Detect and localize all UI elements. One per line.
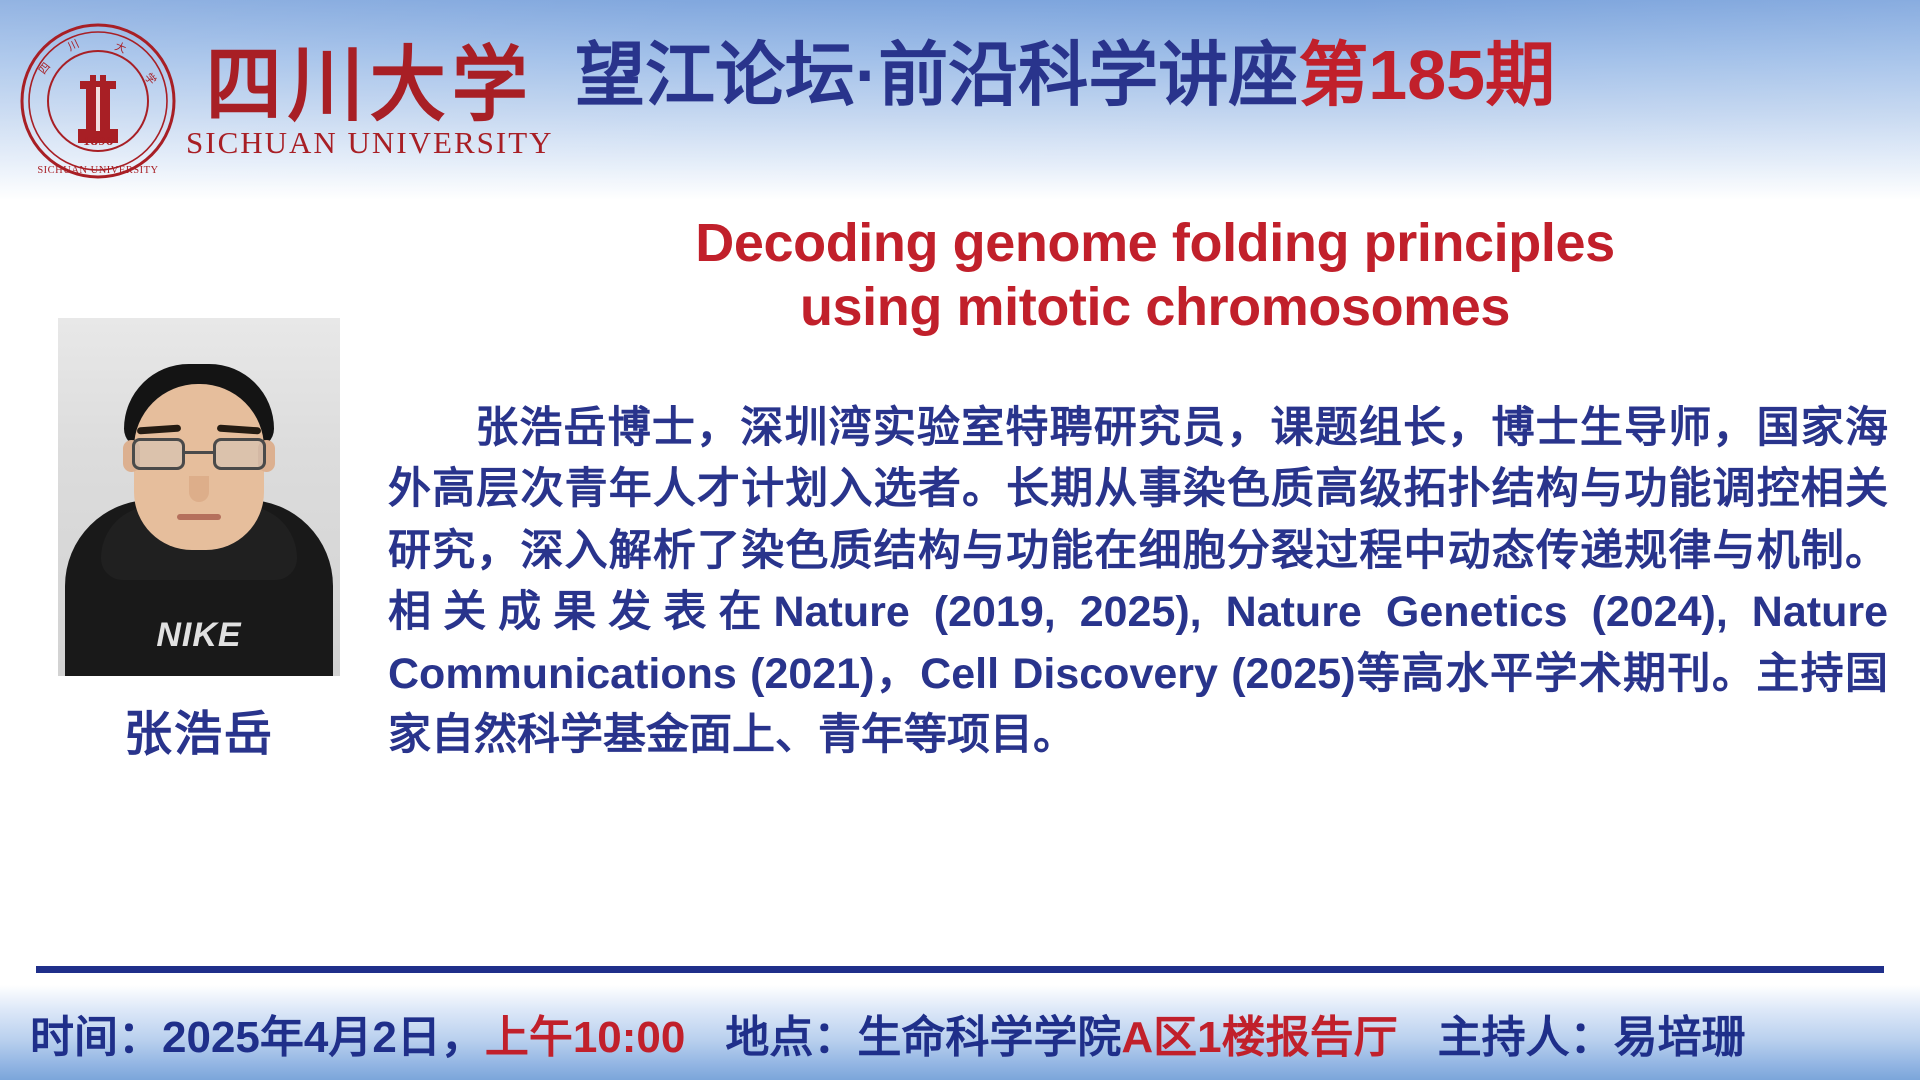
footer-divider: [36, 966, 1884, 973]
talk-title-line-1: Decoding genome folding principles: [420, 212, 1890, 276]
svg-text:1896: 1896: [83, 135, 114, 148]
svg-text:四: 四: [36, 60, 53, 77]
lecture-issue-label: 第185期: [1298, 40, 1555, 110]
portrait-mouth: [177, 514, 221, 520]
lecture-series-label: 望江论坛·前沿科学讲座: [575, 40, 1298, 110]
footer-details: 时间：2025年4月2日，上午10:00 地点：生命科学学院A区1楼报告厅 主持…: [0, 1001, 1746, 1065]
talk-title-line-2: using mitotic chromosomes: [420, 276, 1890, 340]
portrait-nose: [189, 476, 209, 502]
portrait-apparel-brand: NIKE: [143, 616, 255, 654]
footer-time-label: 时间：: [30, 1001, 162, 1065]
speaker-bio: 张浩岳博士，深圳湾实验室特聘研究员，课题组长，博士生导师，国家海外高层次青年人才…: [388, 398, 1888, 767]
portrait-glasses-bridge: [185, 451, 213, 454]
footer-date-value: 2025年4月2日，: [162, 1001, 485, 1065]
university-seal-icon: 1896 四 川 大 学 SICHUAN UNIVERSITY: [18, 21, 178, 181]
footer-place-prefix: 生命科学学院: [857, 1001, 1121, 1065]
wordmark-chinese: 四川大学: [206, 43, 534, 127]
footer-place-highlight: A区1楼报告厅: [1121, 1001, 1397, 1065]
footer-host-label: 主持人：: [1438, 1001, 1614, 1065]
talk-title: Decoding genome folding principles using…: [420, 212, 1890, 339]
university-logo: 1896 四 川 大 学 SICHUAN UNIVERSITY 四川大学 SIC…: [18, 8, 578, 193]
seminar-poster: 1896 四 川 大 学 SICHUAN UNIVERSITY 四川大学 SIC…: [0, 0, 1920, 1080]
banner-title: 望江论坛·前沿科学讲座第185期: [575, 26, 1910, 124]
speaker-name: 张浩岳: [58, 694, 340, 764]
portrait-lens-left: [132, 438, 185, 470]
footer-time-value: 上午10:00: [485, 1001, 686, 1065]
university-wordmark: 四川大学 SICHUAN UNIVERSITY: [186, 40, 554, 162]
portrait-glasses: [132, 438, 266, 472]
portrait-lens-right: [213, 438, 266, 470]
footer-place-label: 地点：: [725, 1001, 857, 1065]
bio-text: 张浩岳博士，深圳湾实验室特聘研究员，课题组长，博士生导师，国家海外高层次青年人才…: [388, 404, 1888, 759]
speaker-block: NIKE 张浩岳: [58, 318, 358, 764]
footer-host-value: 易培珊: [1614, 1001, 1746, 1065]
svg-text:SICHUAN UNIVERSITY: SICHUAN UNIVERSITY: [37, 165, 158, 176]
speaker-portrait: NIKE: [58, 318, 340, 676]
footer-bar: 时间：2025年4月2日，上午10:00 地点：生命科学学院A区1楼报告厅 主持…: [0, 985, 1920, 1080]
